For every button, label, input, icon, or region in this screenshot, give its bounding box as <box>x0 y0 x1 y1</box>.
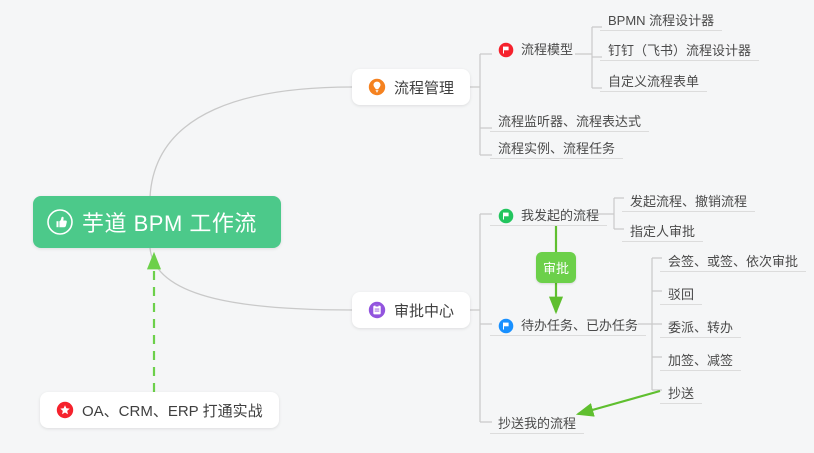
edge-cc-to-cc-mine <box>578 391 660 414</box>
lightbulb-icon <box>368 78 386 96</box>
leaf-reject[interactable]: 驳回 <box>660 278 702 305</box>
leaf-designated-approver-label: 指定人审批 <box>630 225 695 238</box>
leaf-custom-form-label: 自定义流程表单 <box>608 75 699 88</box>
root-label: 芋道 BPM 工作流 <box>82 206 257 238</box>
leaf-bpmn-designer[interactable]: BPMN 流程设计器 <box>600 4 722 31</box>
flag-icon <box>498 318 514 334</box>
leaf-instance-task-label: 流程实例、流程任务 <box>498 142 615 155</box>
flag-icon <box>498 42 514 58</box>
leaf-add-remove-sign[interactable]: 加签、减签 <box>660 344 741 371</box>
leaf-delegate-transfer-label: 委派、转办 <box>668 321 733 334</box>
node-my-started-processes-label: 我发起的流程 <box>521 209 599 222</box>
leaf-countersign[interactable]: 会签、或签、依次审批 <box>660 245 806 272</box>
branch-approval-center-label: 审批中心 <box>394 300 454 321</box>
node-my-started-processes[interactable]: 我发起的流程 <box>490 199 607 226</box>
leaf-designated-approver[interactable]: 指定人审批 <box>622 215 703 242</box>
mindmap-canvas: 芋道 BPM 工作流 OA、CRM、ERP 打通实战 流程管理 <box>0 0 814 453</box>
leaf-dingtalk-designer[interactable]: 钉钉（飞书）流程设计器 <box>600 34 759 61</box>
leaf-cc[interactable]: 抄送 <box>660 377 702 404</box>
node-process-model[interactable]: 流程模型 <box>490 32 581 59</box>
thumbs-up-icon <box>47 209 73 235</box>
leaf-cc-my-processes-label: 抄送我的流程 <box>498 417 576 430</box>
leaf-countersign-label: 会签、或签、依次审批 <box>668 255 798 268</box>
clipboard-icon <box>368 301 386 319</box>
leaf-cc-label: 抄送 <box>668 387 694 400</box>
annotation-card-label: OA、CRM、ERP 打通实战 <box>82 400 263 421</box>
leaf-listener-expression-label: 流程监听器、流程表达式 <box>498 115 641 128</box>
node-todo-done-tasks-label: 待办任务、已办任务 <box>521 319 638 332</box>
approval-tag-label: 审批 <box>543 258 569 277</box>
approval-tag-badge[interactable]: 审批 <box>536 252 576 283</box>
flag-icon <box>498 208 514 224</box>
root-node[interactable]: 芋道 BPM 工作流 <box>33 196 281 248</box>
leaf-start-cancel-process[interactable]: 发起流程、撤销流程 <box>622 185 755 212</box>
node-process-model-label: 流程模型 <box>521 43 573 56</box>
edge-root-to-process-management <box>150 87 352 197</box>
leaf-custom-form[interactable]: 自定义流程表单 <box>600 65 707 92</box>
leaf-delegate-transfer[interactable]: 委派、转办 <box>660 311 741 338</box>
leaf-add-remove-sign-label: 加签、减签 <box>668 354 733 367</box>
leaf-listener-expression[interactable]: 流程监听器、流程表达式 <box>490 105 649 132</box>
annotation-card[interactable]: OA、CRM、ERP 打通实战 <box>40 392 279 428</box>
star-icon <box>56 401 74 419</box>
leaf-bpmn-designer-label: BPMN 流程设计器 <box>608 14 714 27</box>
branch-process-management[interactable]: 流程管理 <box>352 69 470 105</box>
leaf-instance-task[interactable]: 流程实例、流程任务 <box>490 132 623 159</box>
leaf-start-cancel-process-label: 发起流程、撤销流程 <box>630 195 747 208</box>
branch-approval-center[interactable]: 审批中心 <box>352 292 470 328</box>
leaf-cc-my-processes[interactable]: 抄送我的流程 <box>490 407 584 434</box>
leaf-dingtalk-designer-label: 钉钉（飞书）流程设计器 <box>608 44 751 57</box>
edge-root-to-approval-center <box>150 248 352 310</box>
node-todo-done-tasks[interactable]: 待办任务、已办任务 <box>490 309 646 336</box>
leaf-reject-label: 驳回 <box>668 288 694 301</box>
branch-process-management-label: 流程管理 <box>394 77 454 98</box>
